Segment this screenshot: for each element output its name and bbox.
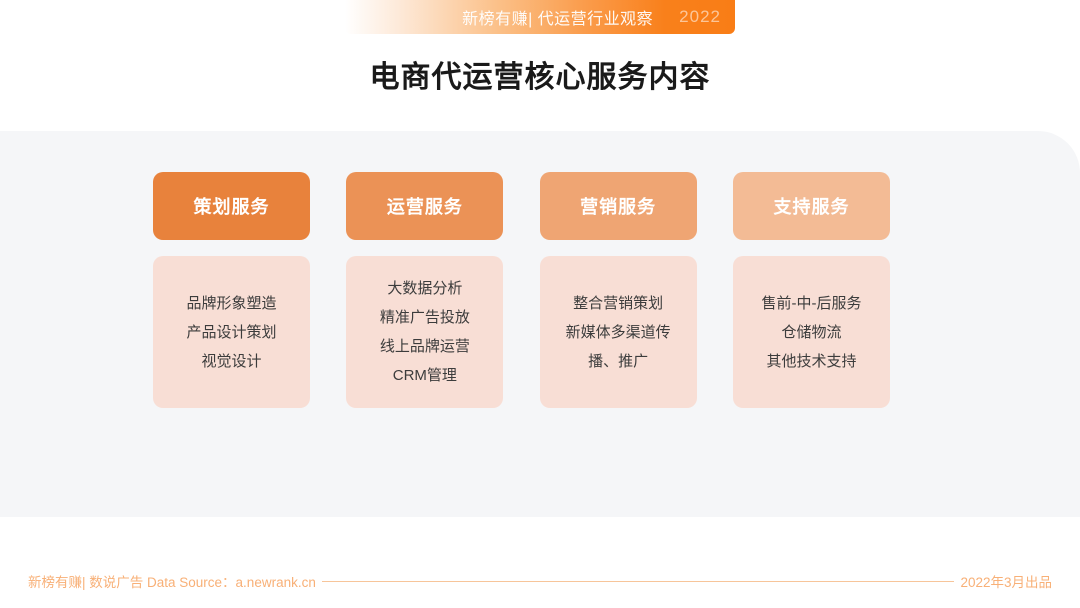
service-item: 整合营销策划: [573, 289, 663, 318]
service-item: 品牌形象塑造: [186, 289, 276, 318]
service-item: 产品设计策划: [186, 318, 276, 347]
service-item: 仓储物流: [781, 318, 841, 347]
service-item: 线上品牌运营: [380, 332, 470, 361]
service-item: CRM管理: [393, 361, 457, 390]
service-body-planning: 品牌形象塑造 产品设计策划 视觉设计: [153, 256, 310, 408]
footer-divider: [322, 581, 955, 582]
footer-source: 新榜有赚| 数说广告 Data Source：a.newrank.cn: [28, 571, 316, 591]
service-body-operations: 大数据分析 精准广告投放 线上品牌运营 CRM管理: [346, 256, 503, 408]
page-title: 电商代运营核心服务内容: [0, 52, 1080, 96]
service-item: 大数据分析: [387, 274, 462, 303]
report-banner: 新榜有赚| 代运营行业观察 2022: [345, 0, 735, 34]
service-column-support: 支持服务 售前-中-后服务 仓储物流 其他技术支持: [733, 172, 890, 408]
service-heading-planning[interactable]: 策划服务: [153, 172, 310, 240]
service-body-marketing: 整合营销策划 新媒体多渠道传 播、推广: [540, 256, 697, 408]
service-item: 售前-中-后服务: [761, 289, 861, 318]
banner-year: 2022: [679, 7, 721, 27]
service-item: 精准广告投放: [380, 303, 470, 332]
service-heading-marketing[interactable]: 营销服务: [540, 172, 697, 240]
footer-date: 2022年3月出品: [960, 571, 1052, 591]
service-item: 播、推广: [588, 347, 648, 376]
service-column-operations: 运营服务 大数据分析 精准广告投放 线上品牌运营 CRM管理: [346, 172, 503, 408]
service-heading-support[interactable]: 支持服务: [733, 172, 890, 240]
service-item: 其他技术支持: [766, 347, 856, 376]
service-column-planning: 策划服务 品牌形象塑造 产品设计策划 视觉设计: [153, 172, 310, 408]
footer: 新榜有赚| 数说广告 Data Source：a.newrank.cn 2022…: [0, 566, 1080, 596]
service-columns: 策划服务 品牌形象塑造 产品设计策划 视觉设计 运营服务 大数据分析 精准广告投…: [153, 172, 890, 408]
service-column-marketing: 营销服务 整合营销策划 新媒体多渠道传 播、推广: [540, 172, 697, 408]
service-body-support: 售前-中-后服务 仓储物流 其他技术支持: [733, 256, 890, 408]
service-item: 新媒体多渠道传: [566, 318, 671, 347]
service-item: 视觉设计: [201, 347, 261, 376]
service-heading-operations[interactable]: 运营服务: [346, 172, 503, 240]
banner-title: 新榜有赚| 代运营行业观察: [462, 5, 653, 29]
